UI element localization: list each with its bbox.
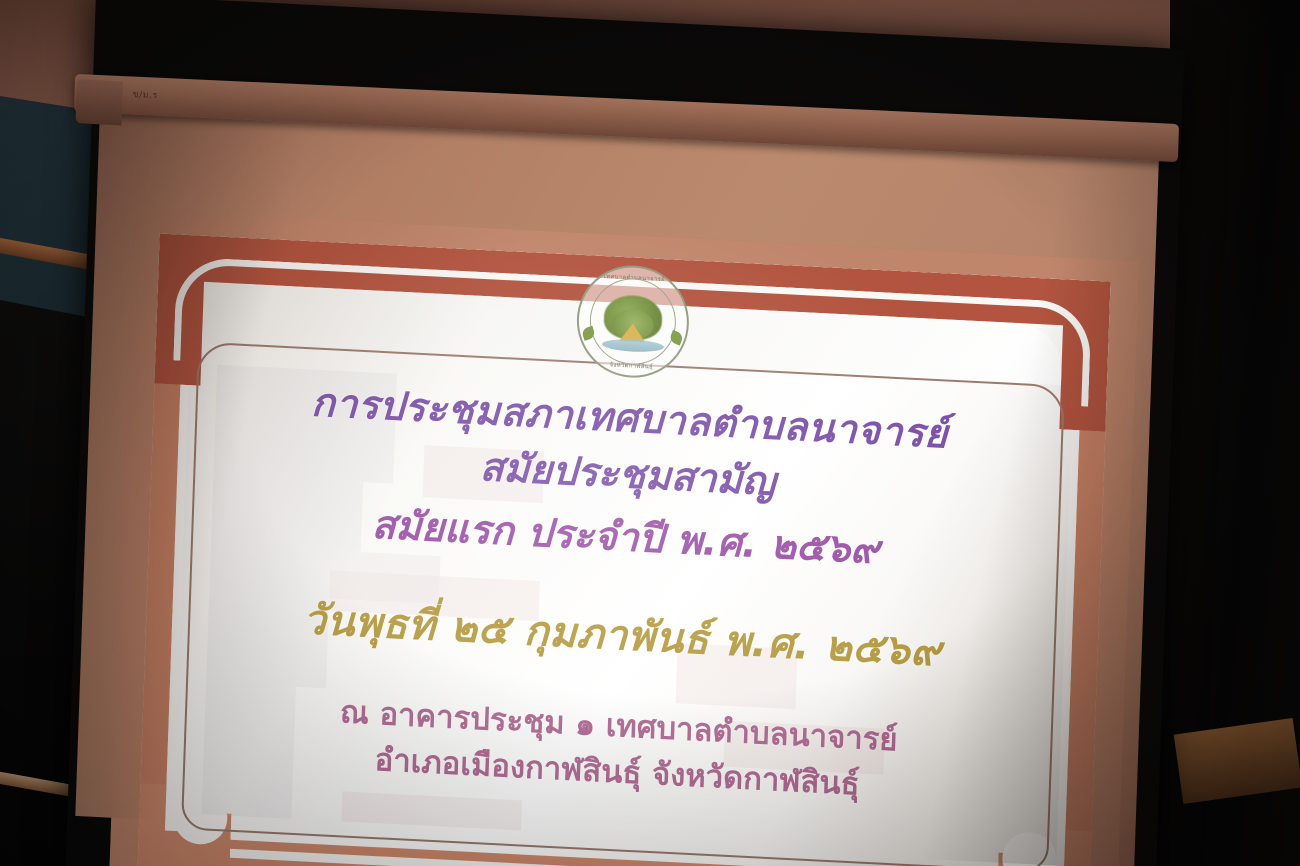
scene-photo: เทศบาลตำบลนาจารย์ จังหวัดกาฬสินธุ์ การปร… <box>0 0 1300 866</box>
seal-leaf-right-icon <box>669 330 685 346</box>
projector-screen: เทศบาลตำบลนาจารย์ จังหวัดกาฬสินธุ์ การปร… <box>65 0 1184 866</box>
screen-roller-end-cap <box>75 79 122 125</box>
presentation-slide: เทศบาลตำบลนาจารย์ จังหวัดกาฬสินธุ์ การปร… <box>108 210 1139 866</box>
seal-water-icon <box>602 338 664 353</box>
seal-inner-ring <box>588 276 677 366</box>
slide-text-content: การประชุมสภาเทศบาลตำบลนาจารย์ สมัยประชุม… <box>191 364 1054 866</box>
municipality-seal-logo: เทศบาลตำบลนาจารย์ จังหวัดกาฬสินธุ์ <box>575 263 691 381</box>
screen-surface: เทศบาลตำบลนาจารย์ จังหวัดกาฬสินธุ์ การปร… <box>75 90 1159 866</box>
screen-roller-label: ข/ม.ร <box>132 87 158 102</box>
slide-date-line: วันพุธที่ ๒๕ กุมภาพันธ์ พ.ศ. ๒๕๖๙ <box>198 589 1047 683</box>
